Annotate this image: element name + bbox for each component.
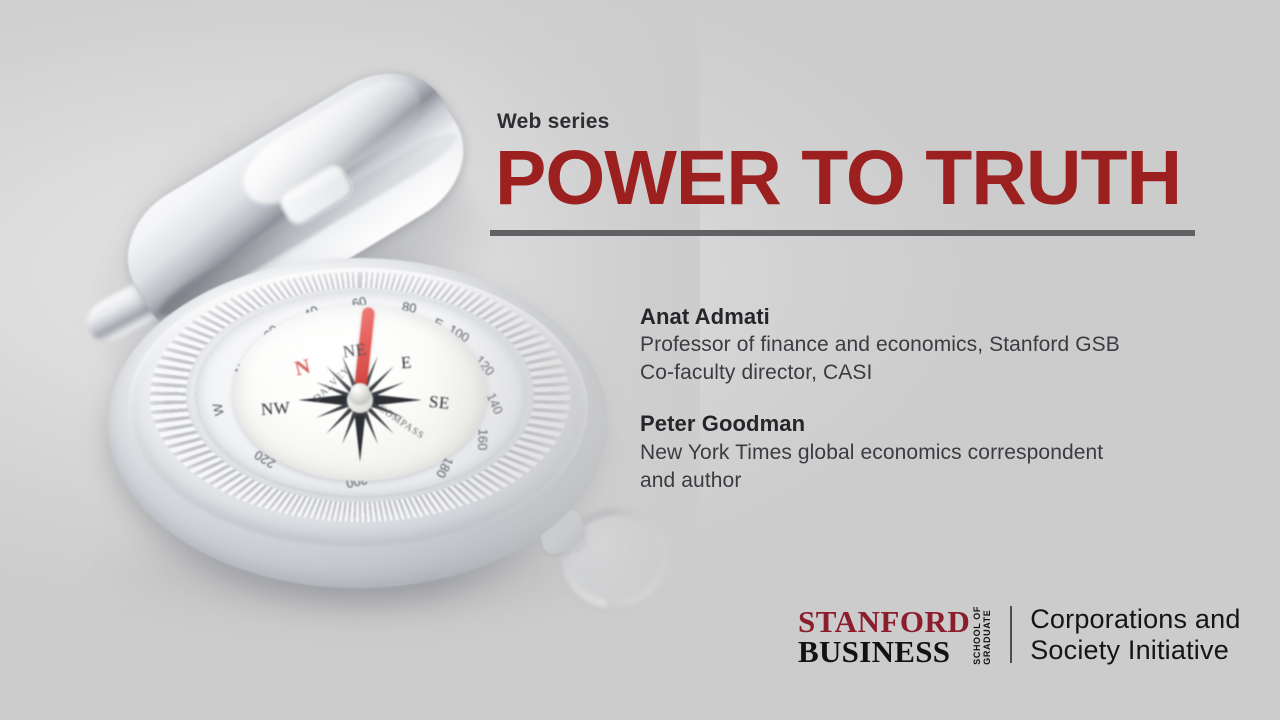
eyebrow-label: Web series <box>497 110 610 134</box>
dial-mark-se: SE <box>428 392 451 414</box>
speaker-entry: Peter Goodman New York Times global econ… <box>640 409 1240 494</box>
needle-pivot <box>350 383 370 403</box>
graduate-text: GRADUATE <box>983 606 992 665</box>
stanford-word: STANFORD <box>798 607 970 637</box>
logo-divider <box>1010 606 1012 663</box>
speaker-detail-line: New York Times global economics correspo… <box>640 439 1240 467</box>
speaker-entry: Anat Admati Professor of finance and eco… <box>640 302 1240 387</box>
business-word: BUSINESS <box>798 637 970 667</box>
speaker-detail-line: Co-faculty director, CASI <box>640 359 1240 387</box>
speaker-list: Anat Admati Professor of finance and eco… <box>640 302 1240 517</box>
compass-dial: NE E SE NW N DALVEY COMPASS <box>233 305 487 481</box>
logo-lockup: STANFORD BUSINESS GRADUATE SCHOOL OF Cor… <box>798 604 1241 667</box>
page-title: POWER TO TRUTH <box>495 140 1181 217</box>
stanford-gsb-logo: STANFORD BUSINESS GRADUATE SCHOOL OF <box>798 604 992 667</box>
title-underline-rule <box>490 230 1195 236</box>
speaker-name: Peter Goodman <box>640 409 1240 438</box>
degree-label: 160 <box>475 428 491 450</box>
speaker-detail-line: Professor of finance and economics, Stan… <box>640 331 1240 359</box>
dial-mark-nw: NW <box>260 398 291 420</box>
compass-photo: N 20 40 60 80 E 100 120 140 160 180 200 … <box>0 0 700 720</box>
graduate-school-of-vertical: GRADUATE SCHOOL OF <box>973 606 992 665</box>
school-of-text: SCHOOL OF <box>973 606 982 665</box>
speaker-detail-line: and author <box>640 467 1240 495</box>
initiative-line-1: Corporations and <box>1030 604 1240 635</box>
initiative-name: Corporations and Society Initiative <box>1030 604 1240 667</box>
initiative-line-2: Society Initiative <box>1030 635 1240 666</box>
speaker-name: Anat Admati <box>640 302 1240 331</box>
title-card-slide: N 20 40 60 80 E 100 120 140 160 180 200 … <box>0 0 1280 720</box>
stanford-gsb-wordmark: STANFORD BUSINESS <box>798 607 970 667</box>
